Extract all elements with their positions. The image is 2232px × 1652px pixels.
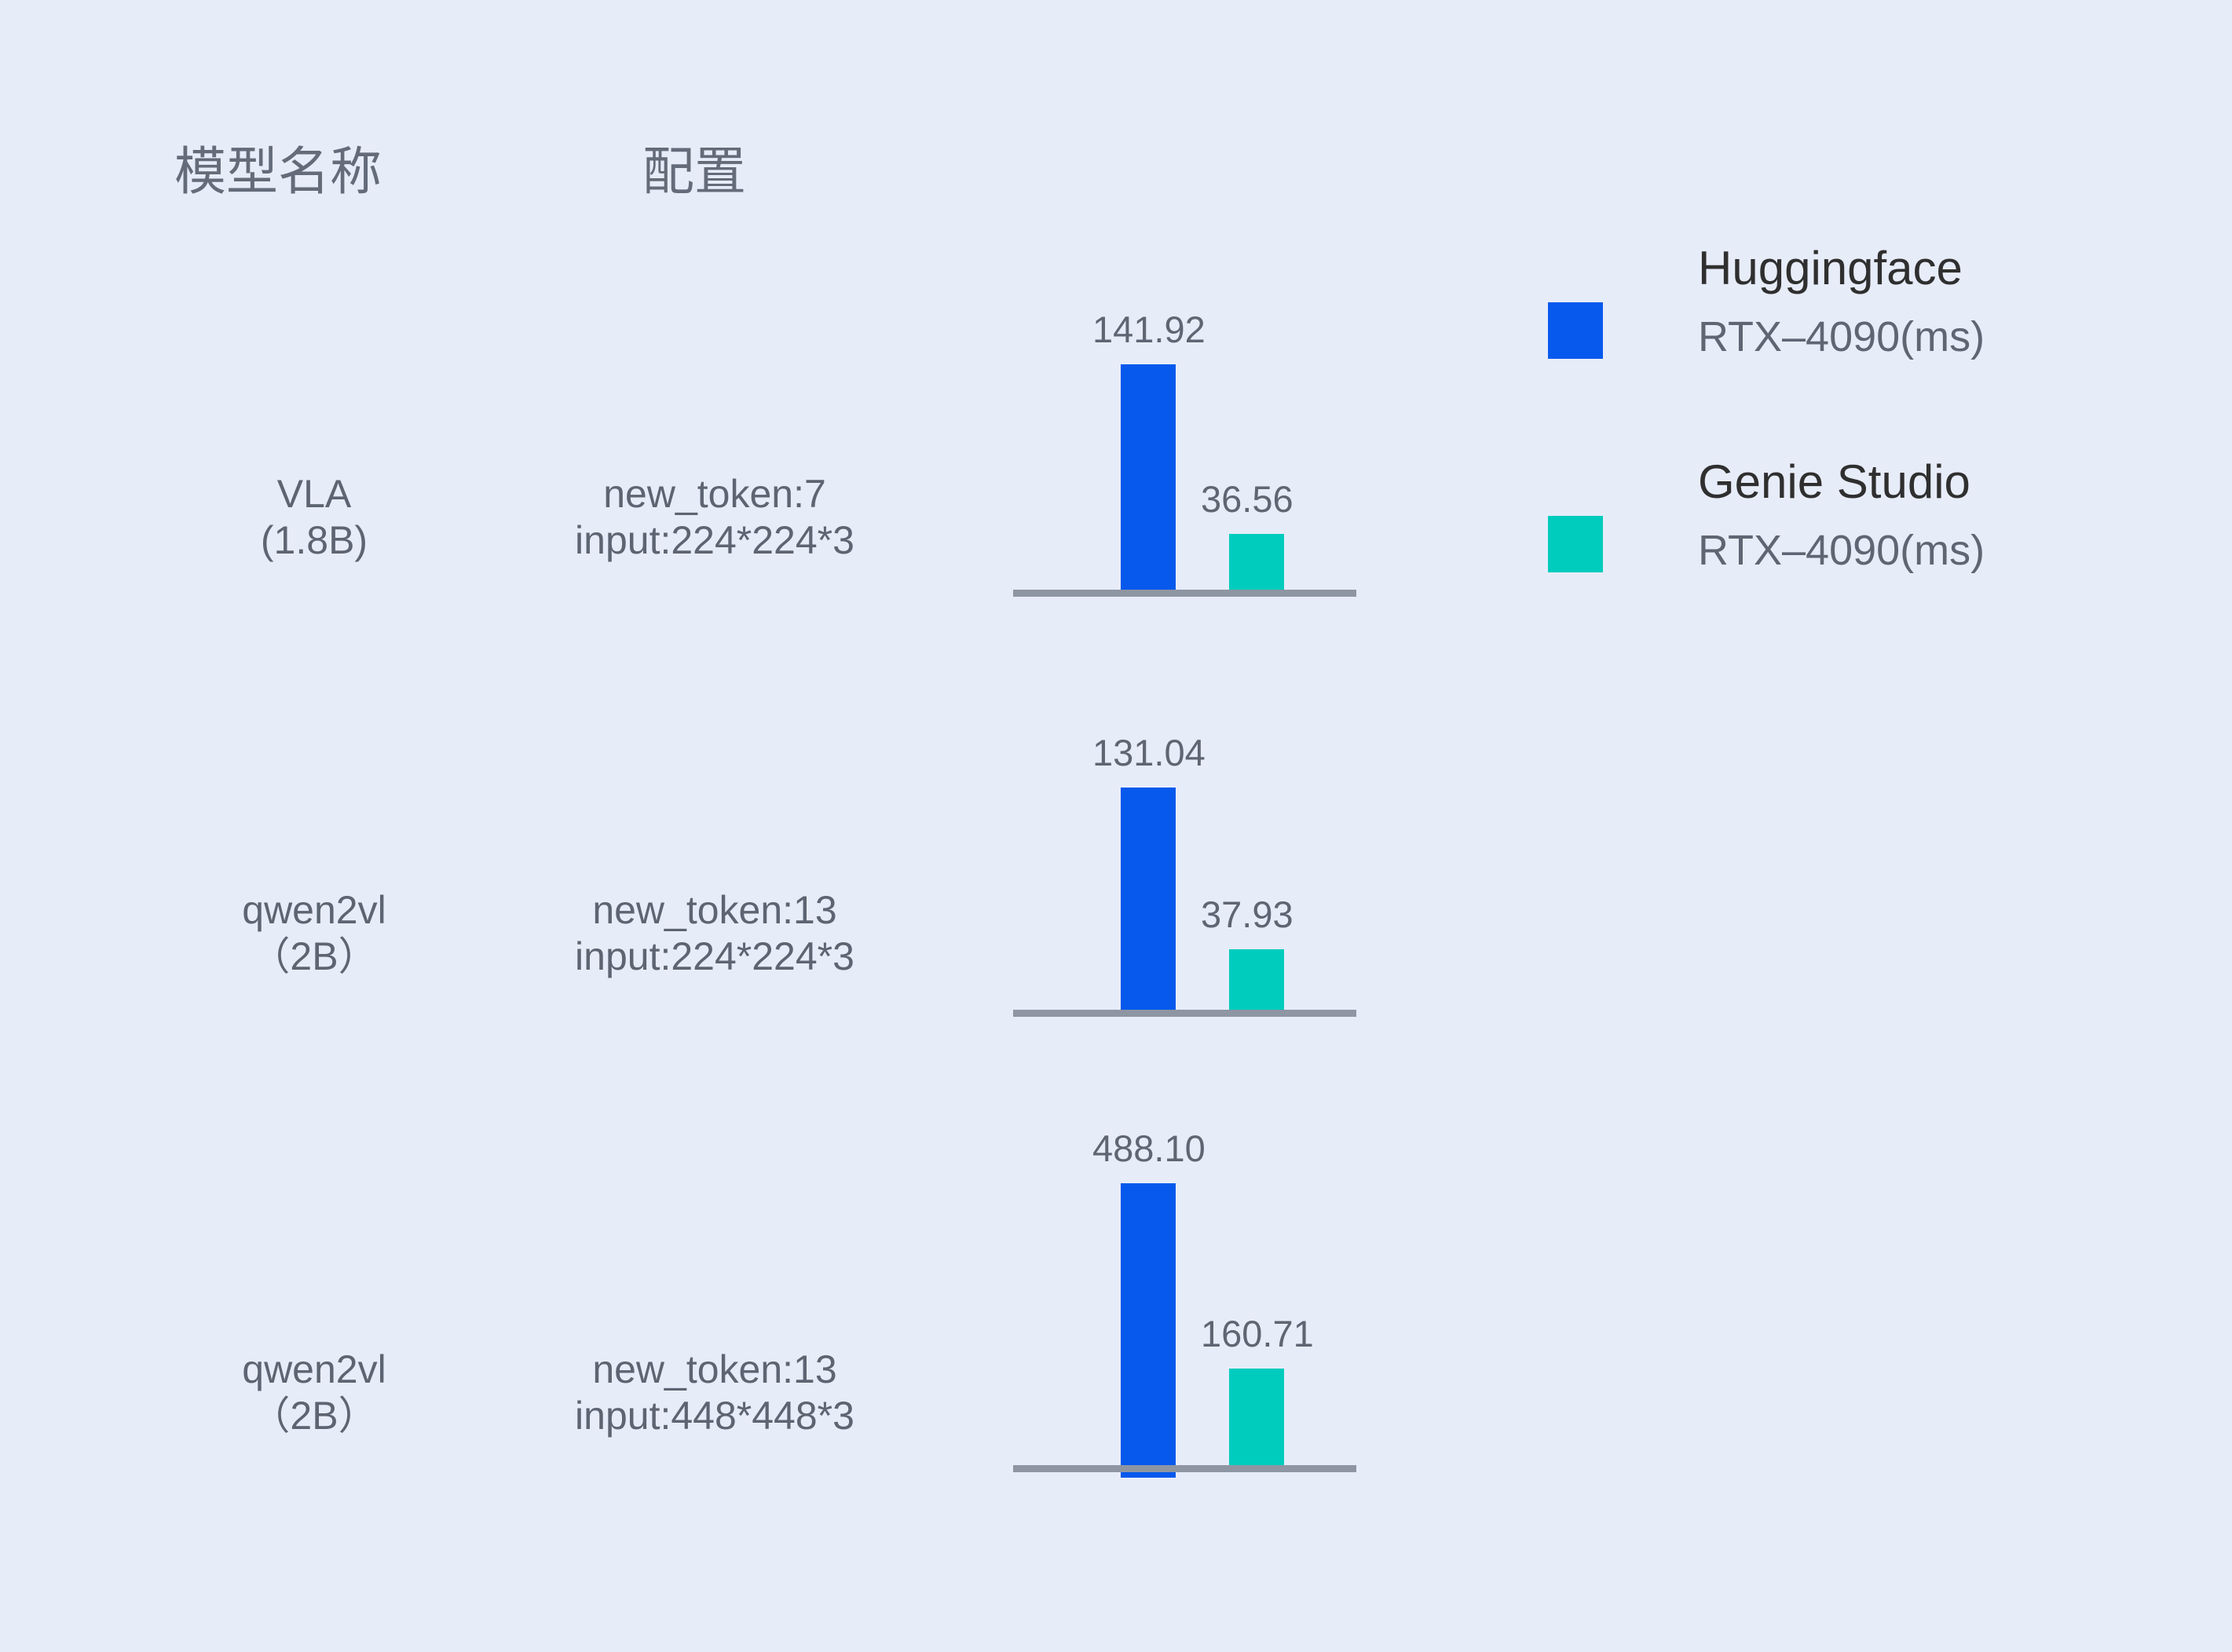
- config-line-2: input:448*448*3: [503, 1393, 927, 1439]
- bar-value-genie-studio: 37.93: [1201, 896, 1293, 933]
- model-name-line-1: VLA: [141, 471, 487, 517]
- plot-area: 131.04 37.93: [1013, 589, 1359, 1017]
- legend-title: Huggingface: [1698, 245, 2169, 292]
- bar-huggingface[interactable]: 141.92: [1121, 364, 1176, 594]
- legend-swatch-icon: [1548, 516, 1603, 572]
- legend-subtitle: RTX–4090(ms): [1698, 529, 2169, 572]
- bar-value-huggingface: 141.92: [1092, 311, 1206, 348]
- config-line-1: new_token:7: [503, 471, 927, 517]
- model-name-cell: VLA (1.8B): [141, 471, 487, 563]
- plot-area: 488.10 160.71: [1013, 1001, 1359, 1472]
- bar-genie-studio[interactable]: 36.56: [1229, 534, 1284, 594]
- config-cell: new_token:13 input:448*448*3: [503, 1347, 927, 1438]
- config-line-2: input:224*224*3: [503, 934, 927, 980]
- config-line-1: new_token:13: [503, 887, 927, 934]
- legend-title: Genie Studio: [1698, 459, 2169, 506]
- config-line-2: input:224*224*3: [503, 517, 927, 564]
- model-name-line-1: qwen2vl: [141, 1347, 487, 1393]
- model-name-cell: qwen2vl （2B）: [141, 887, 487, 979]
- bar-chart-panel: 488.10 160.71: [1013, 1009, 1359, 1480]
- bar-chart-panel: 141.92 36.56: [1013, 236, 1359, 605]
- model-name-line-2: （2B）: [141, 934, 487, 980]
- model-name-line-2: (1.8B): [141, 517, 487, 564]
- legend-item-huggingface[interactable]: Huggingface RTX–4090(ms): [1539, 236, 2183, 400]
- bar-genie-studio[interactable]: 160.71: [1229, 1369, 1284, 1469]
- model-name-cell: qwen2vl （2B）: [141, 1347, 487, 1438]
- bar-value-huggingface: 488.10: [1092, 1130, 1206, 1167]
- config-line-1: new_token:13: [503, 1347, 927, 1393]
- chart-baseline: [1013, 1465, 1356, 1472]
- chart-canvas: 模型名称 配置 VLA (1.8B) new_token:7 input:224…: [0, 0, 2232, 1652]
- config-cell: new_token:7 input:224*224*3: [503, 471, 927, 563]
- column-header-config: 配置: [642, 145, 746, 197]
- config-cell: new_token:13 input:224*224*3: [503, 887, 927, 979]
- bar-huggingface[interactable]: 488.10: [1121, 1183, 1176, 1478]
- model-name-line-1: qwen2vl: [141, 887, 487, 934]
- legend-item-genie-studio[interactable]: Genie Studio RTX–4090(ms): [1539, 449, 2183, 614]
- bar-value-genie-studio: 36.56: [1201, 481, 1293, 517]
- bar-chart-panel: 131.04 37.93: [1013, 597, 1359, 1025]
- column-header-model-name: 模型名称: [174, 145, 382, 197]
- model-name-line-2: （2B）: [141, 1393, 487, 1439]
- bar-value-genie-studio: 160.71: [1201, 1315, 1314, 1352]
- legend-subtitle: RTX–4090(ms): [1698, 316, 2169, 358]
- legend-text-block: Huggingface RTX–4090(ms): [1698, 245, 2169, 358]
- legend-text-block: Genie Studio RTX–4090(ms): [1698, 459, 2169, 572]
- legend-swatch-icon: [1548, 302, 1603, 359]
- plot-area: 141.92 36.56: [1013, 228, 1359, 597]
- bar-huggingface[interactable]: 131.04: [1121, 788, 1176, 1014]
- bar-value-huggingface: 131.04: [1092, 734, 1206, 771]
